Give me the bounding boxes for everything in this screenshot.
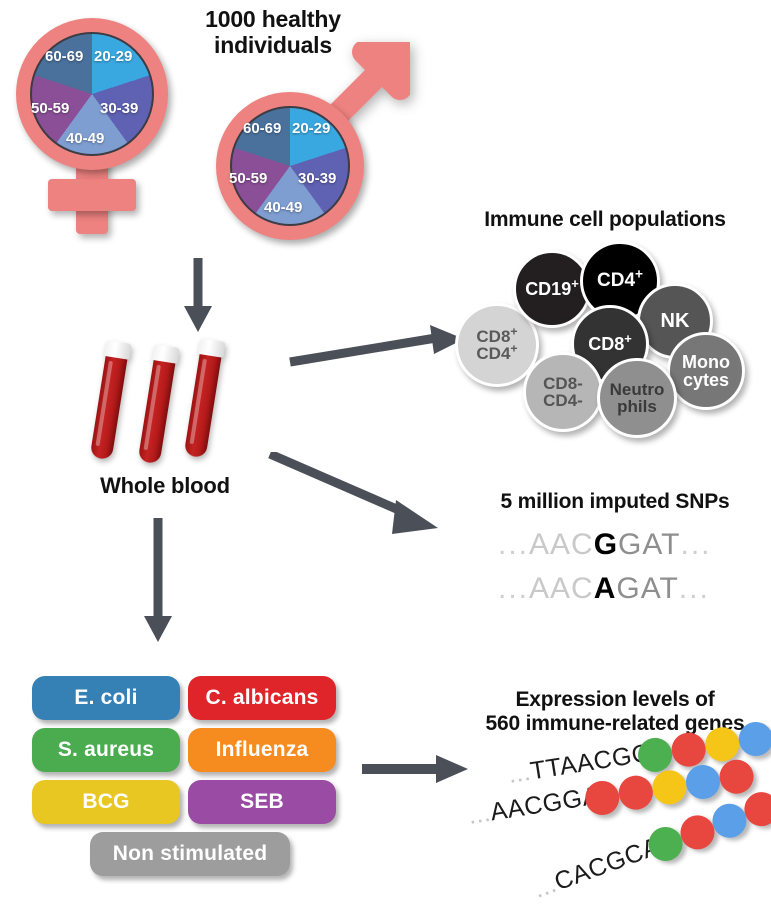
whole-blood-tubes [98, 338, 278, 468]
arrow-blood-to-immune-cells [288, 322, 468, 370]
male-symbol: 20-29 30-39 40-49 50-59 60-69 [198, 30, 428, 242]
immune-cell-monocytes: Monocytes [667, 332, 745, 410]
male-pie-label-50-59: 50-59 [229, 170, 267, 187]
blood-tube [135, 344, 179, 467]
arrow-down-icon [138, 518, 178, 644]
immune-cell-cluster: CD8+CD4+ CD19+ CD4+ NK CD8+ Monocytes CD… [455, 240, 755, 410]
male-pie-label-20-29: 20-29 [292, 120, 330, 137]
male-pie-label-30-39: 30-39 [298, 170, 336, 187]
snp-prefix-dots: ... [498, 528, 529, 561]
stimulus-bcg[interactable]: BCG [32, 780, 180, 824]
arrow-right-down-icon [268, 452, 448, 544]
immune-cell-label: CD8-CD4- [543, 375, 583, 410]
expression-title-line1: Expression levels of [460, 688, 770, 712]
male-pie-label-60-69: 60-69 [243, 120, 281, 137]
immune-cell-label: Monocytes [682, 353, 730, 390]
snp-faded-bases: AAC [529, 528, 594, 561]
snp-sequence-row: ...AACAGAT... [498, 572, 710, 606]
immune-cell-populations-title: Immune cell populations [450, 208, 760, 232]
blood-tube [87, 340, 131, 463]
stimuli-panel: E. coli C. albicans S. aureus Influenza … [32, 676, 332, 896]
snp-title: 5 million imputed SNPs [460, 490, 770, 514]
snp-highlight-base: A [594, 572, 617, 605]
female-pie-label-60-69: 60-69 [45, 48, 83, 65]
stimulus-s-aureus[interactable]: S. aureus [32, 728, 180, 772]
arrow-blood-to-stimuli [138, 518, 178, 644]
female-pie-label-50-59: 50-59 [31, 100, 69, 117]
snp-tail-bases: GAT [618, 528, 680, 561]
immune-cell-label: Neutrophils [610, 381, 665, 416]
female-pie-label-40-49: 40-49 [66, 130, 104, 147]
arrow-blood-to-snps [268, 452, 448, 544]
female-pie-label-30-39: 30-39 [100, 100, 138, 117]
stimulus-e-coli[interactable]: E. coli [32, 676, 180, 720]
male-pie-label-40-49: 40-49 [264, 199, 302, 216]
snp-faded-bases: AAC [529, 572, 594, 605]
arrow-right-up-icon [288, 322, 468, 370]
immune-cell-label: CD4+ [597, 271, 643, 290]
female-symbol: 20-29 30-39 40-49 50-59 60-69 [8, 16, 188, 241]
stimulus-non-stimulated[interactable]: Non stimulated [90, 832, 290, 876]
female-stem-horizontal [48, 179, 136, 211]
immune-cell-cd19p: CD19+ [513, 250, 591, 328]
stimulus-influenza[interactable]: Influenza [188, 728, 336, 772]
immune-cell-label: NK [661, 311, 690, 331]
immune-cell-cd8n-cd4n: CD8-CD4- [523, 352, 603, 432]
snp-prefix-dots: ... [498, 572, 529, 605]
immune-cell-neutrophils: Neutrophils [597, 358, 677, 438]
immune-cell-label: CD8+CD4+ [476, 328, 517, 363]
snp-tail-bases: GAT [616, 572, 678, 605]
blood-tube [181, 338, 225, 461]
immune-cell-label: CD19+ [525, 280, 579, 298]
arrow-individuals-to-blood [178, 258, 218, 334]
snp-highlight-base: G [594, 528, 618, 561]
stimulus-seb[interactable]: SEB [188, 780, 336, 824]
snp-suffix-dots: ... [681, 528, 712, 561]
arrow-down-icon [178, 258, 218, 334]
snp-sequence-row: ...AACGGAT... [498, 528, 712, 562]
snp-suffix-dots: ... [679, 572, 710, 605]
arrow-stimuli-to-expression [360, 752, 470, 786]
whole-blood-label: Whole blood [75, 473, 255, 498]
immune-cell-label: CD8+ [588, 335, 632, 353]
arrow-right-icon [360, 752, 470, 786]
stimulus-c-albicans[interactable]: C. albicans [188, 676, 336, 720]
figure-canvas: 1000 healthy individuals 20-29 30-39 40-… [0, 0, 771, 922]
female-pie-label-20-29: 20-29 [94, 48, 132, 65]
cohort-title-line1: 1000 healthy [178, 6, 368, 32]
